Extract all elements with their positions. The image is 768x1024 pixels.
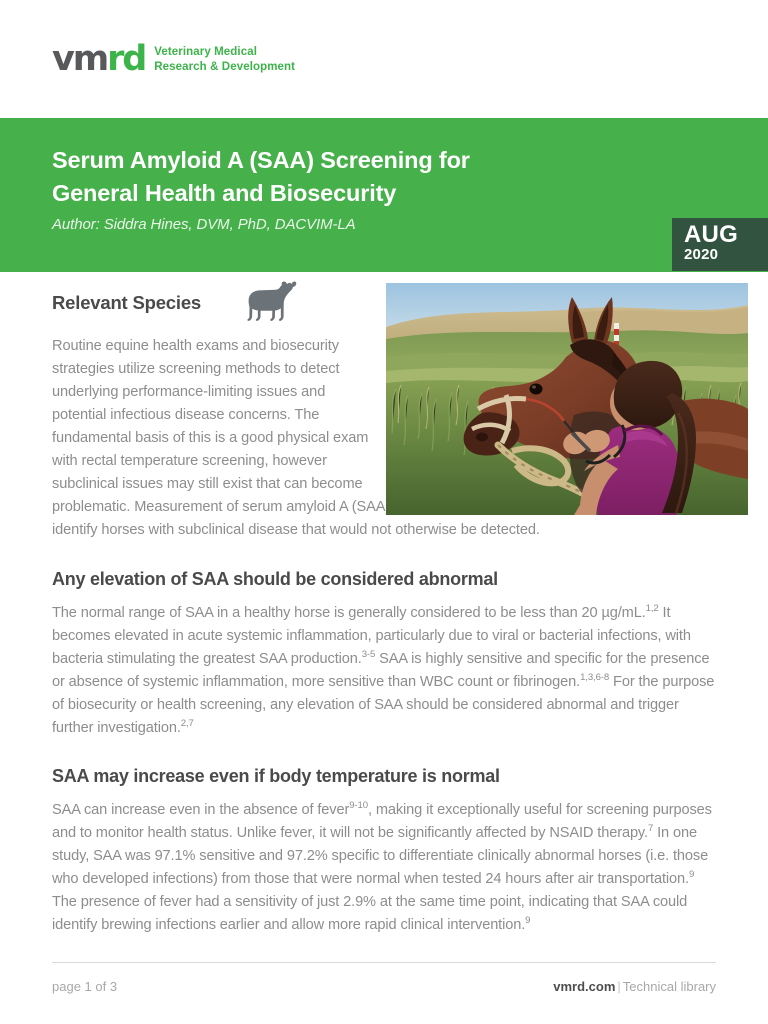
logo-tagline: Veterinary Medical Research & Developmen… (154, 43, 295, 75)
section-part: The presence of fever had a sensitivity … (52, 894, 687, 933)
section-part: The normal range of SAA in a healthy hor… (52, 605, 646, 621)
footer-separator: | (615, 979, 622, 994)
footer-library-label[interactable]: Technical library (623, 979, 716, 994)
citation-ref[interactable]: 1,3,6-8 (580, 672, 609, 683)
hero-photo (386, 283, 748, 515)
citation-ref[interactable]: 9 (525, 915, 530, 926)
relevant-species-label: Relevant Species (52, 292, 201, 314)
footer-branding: vmrd.com|Technical library (553, 979, 716, 994)
page-title-line2: General Health and Biosecurity (52, 177, 620, 210)
document-page: vmrd Veterinary Medical Research & Devel… (0, 0, 768, 1024)
title-block: Serum Amyloid A (SAA) Screening for Gene… (0, 118, 620, 233)
date-badge: AUG 2020 (672, 218, 768, 271)
logo-wordmark: vmrd (52, 42, 145, 77)
title-band: Serum Amyloid A (SAA) Screening for Gene… (0, 118, 768, 272)
logo-header: vmrd Veterinary Medical Research & Devel… (0, 0, 768, 118)
section-heading: Any elevation of SAA should be considere… (52, 569, 716, 590)
main-content: Relevant Species Routine equine health e… (0, 272, 768, 936)
citation-ref[interactable]: 9-10 (349, 801, 368, 812)
citation-ref[interactable]: 3-5 (362, 649, 376, 660)
logo-tagline-line1: Veterinary Medical (154, 45, 295, 60)
logo-rd-text: rd (107, 39, 145, 79)
section-body: SAA can increase even in the absence of … (52, 799, 716, 936)
page-footer: page 1 of 3 vmrd.com|Technical library (52, 962, 716, 994)
page-title: Serum Amyloid A (SAA) Screening for Gene… (52, 144, 620, 211)
logo-tagline-line2: Research & Development (154, 60, 295, 75)
section-part: SAA can increase even in the absence of … (52, 802, 349, 818)
badge-year: 2020 (684, 247, 768, 264)
page-number: page 1 of 3 (52, 979, 117, 994)
page-title-line1: Serum Amyloid A (SAA) Screening for (52, 144, 620, 177)
section-saa-temperature: SAA may increase even if body temperatur… (52, 766, 716, 936)
logo-vm-text: vm (52, 39, 107, 79)
footer-divider (52, 962, 716, 963)
footer-row: page 1 of 3 vmrd.com|Technical library (52, 979, 716, 994)
section-saa-elevation: Any elevation of SAA should be considere… (52, 569, 716, 739)
citation-ref[interactable]: 1,2 (646, 604, 659, 615)
footer-site-link[interactable]: vmrd.com (553, 979, 615, 994)
citation-ref[interactable]: 9 (689, 869, 694, 880)
vmrd-logo[interactable]: vmrd Veterinary Medical Research & Devel… (52, 42, 295, 77)
section-heading: SAA may increase even if body temperatur… (52, 766, 716, 787)
citation-ref[interactable]: 2,7 (181, 718, 194, 729)
horse-icon (239, 281, 297, 325)
badge-month: AUG (684, 223, 768, 247)
intro-paragraph-column: Routine equine health exams and biosecur… (52, 335, 374, 496)
section-body: The normal range of SAA in a healthy hor… (52, 602, 716, 739)
hero-photo-illustration (386, 283, 748, 515)
document-author: Author: Siddra Hines, DVM, PhD, DACVIM-L… (52, 216, 620, 233)
